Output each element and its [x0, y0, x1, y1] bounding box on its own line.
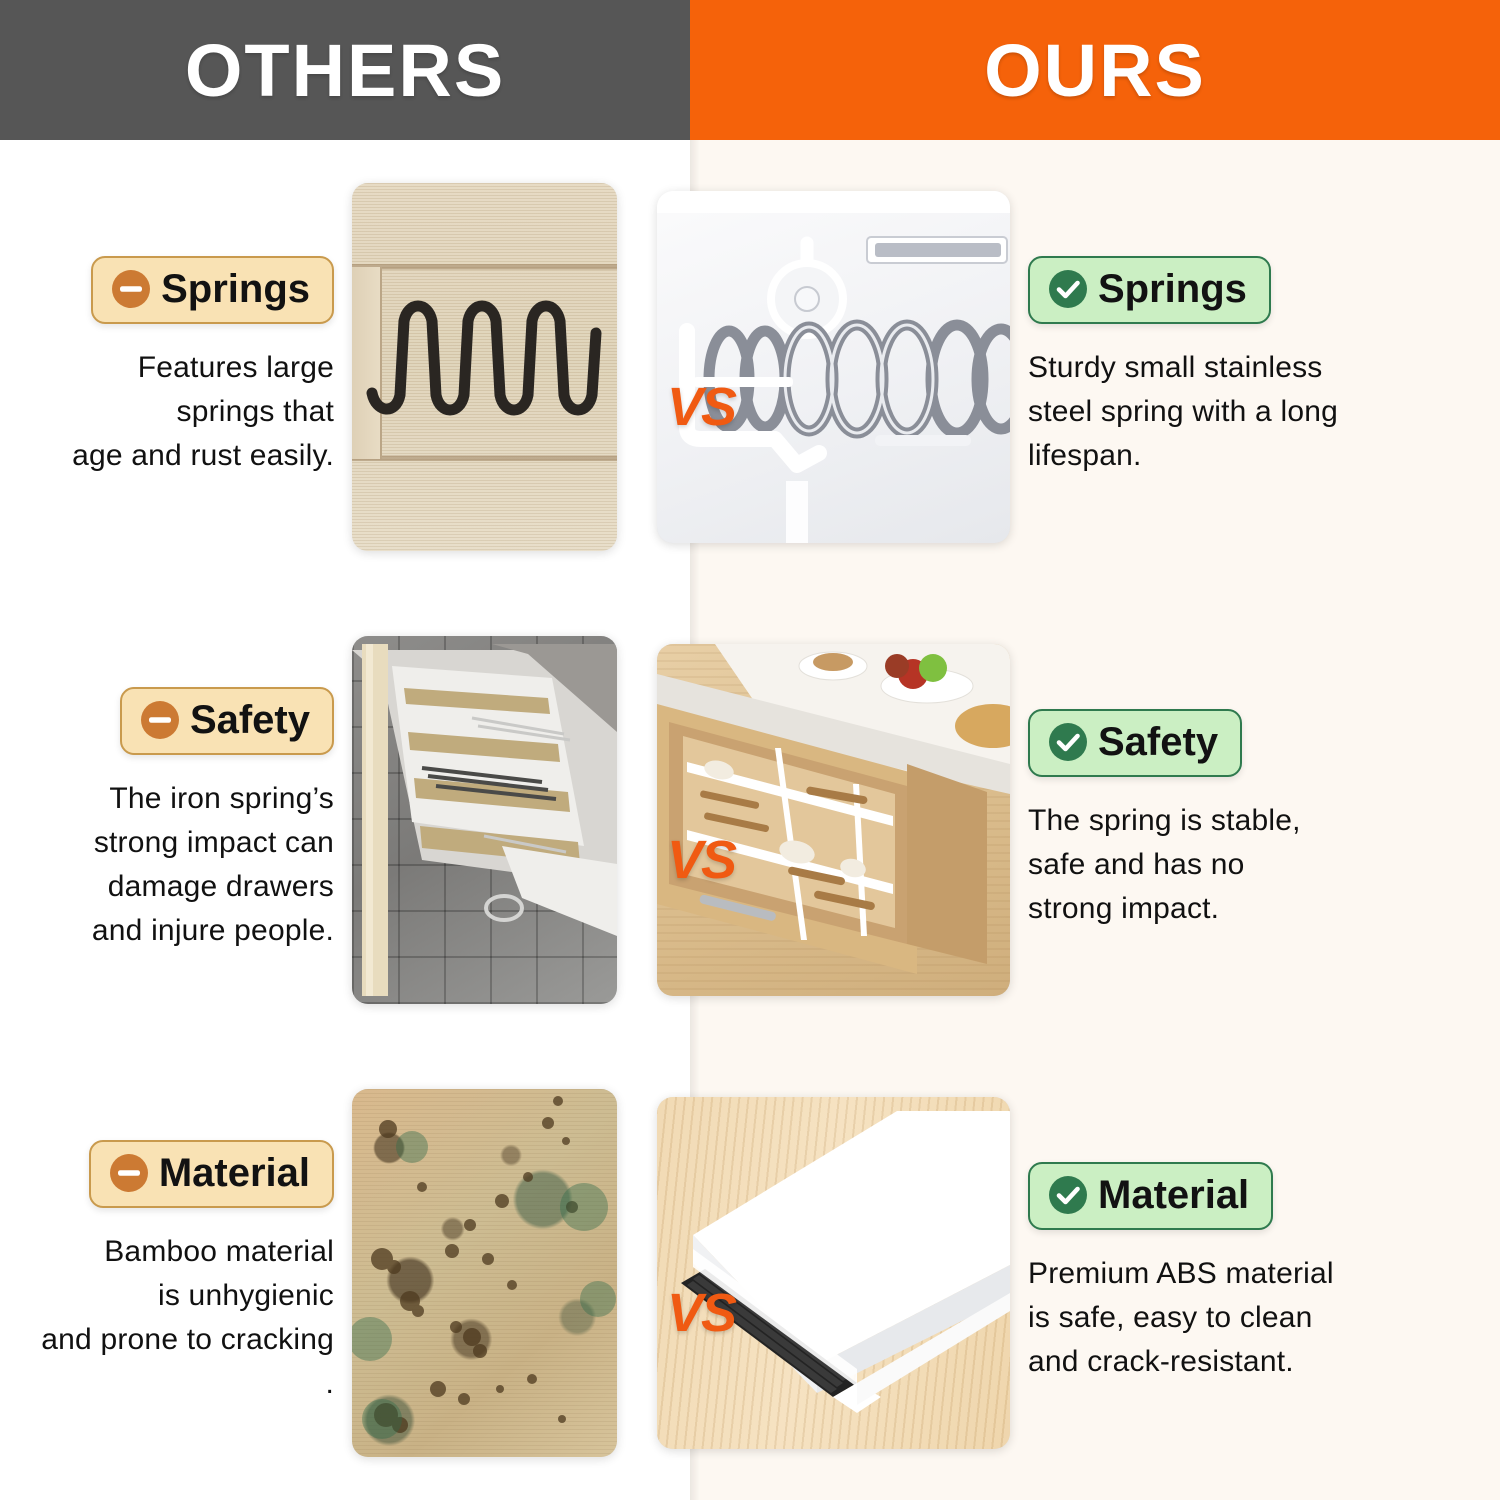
badge-others-material: Material — [89, 1140, 334, 1208]
desc-line: The spring is stable, — [1028, 804, 1301, 837]
badge-ours-material: Material — [1028, 1162, 1273, 1230]
desc-line: age and rust easily. — [72, 439, 334, 472]
comparison-row-material: Material Bamboo material is unhygienic a… — [0, 1047, 1500, 1500]
badge-others-safety: Safety — [120, 687, 334, 755]
desc-line: strong impact can — [94, 826, 334, 859]
minus-circle-icon — [109, 1153, 149, 1193]
mold-spots-graphic — [352, 1089, 617, 1457]
vs-marker-safety: VS — [667, 829, 735, 891]
comparison-board: Springs Features large springs that age … — [0, 140, 1500, 1500]
ours-safety-image — [657, 644, 1010, 996]
ours-springs-desc: Sturdy small stainless steel spring with… — [1028, 346, 1338, 478]
vs-marker-springs: VS — [667, 376, 735, 438]
minus-circle-icon — [140, 700, 180, 740]
others-material-text: Material Bamboo material is unhygienic a… — [12, 1140, 352, 1406]
badge-others-safety-label: Safety — [190, 700, 310, 740]
others-safety-text: Safety The iron spring’s strong impact c… — [12, 687, 352, 953]
organized-drawer-graphic — [657, 644, 1010, 996]
badge-others-material-label: Material — [159, 1153, 310, 1193]
desc-line: The iron spring’s — [109, 782, 334, 815]
check-circle-icon — [1048, 722, 1088, 762]
header-others: OTHERS — [0, 0, 690, 140]
comparison-rows: Springs Features large springs that age … — [0, 140, 1500, 1500]
desc-line: . — [41, 1362, 334, 1406]
comparison-row-springs: Springs Features large springs that age … — [0, 140, 1500, 593]
desc-line: and crack-resistant. — [1028, 1345, 1294, 1378]
desc-line: and injure people. — [92, 914, 334, 947]
others-safety-image — [352, 636, 617, 1004]
header-ours: OURS — [690, 0, 1500, 140]
desc-line: safe and has no — [1028, 848, 1245, 881]
others-material-desc: Bamboo material is unhygienic and prone … — [41, 1230, 334, 1406]
ours-material-desc: Premium ABS material is safe, easy to cl… — [1028, 1252, 1334, 1384]
others-material-image — [352, 1089, 617, 1457]
desc-line: steel spring with a long — [1028, 395, 1338, 428]
header-others-title: OTHERS — [185, 28, 505, 113]
desc-line: Sturdy small stainless — [1028, 351, 1323, 384]
ours-safety-text: Safety The spring is stable, safe and ha… — [1010, 709, 1410, 931]
badge-others-springs-label: Springs — [161, 269, 310, 309]
ours-material-text: Material Premium ABS material is safe, e… — [1010, 1162, 1410, 1384]
ours-material-image — [657, 1097, 1010, 1449]
check-circle-icon — [1048, 1175, 1088, 1215]
desc-line: Features large — [138, 351, 334, 384]
abs-divider-graphic — [657, 1097, 1010, 1449]
badge-ours-springs-label: Springs — [1098, 269, 1247, 309]
badge-ours-springs: Springs — [1028, 256, 1271, 324]
zigzag-spring-graphic — [352, 183, 617, 551]
ours-springs-image — [657, 191, 1010, 543]
check-circle-icon — [1048, 269, 1088, 309]
ours-springs-text: Springs Sturdy small stainless steel spr… — [1010, 256, 1410, 478]
desc-line: Bamboo material — [104, 1235, 334, 1268]
badge-ours-safety-label: Safety — [1098, 722, 1218, 762]
coil-spring-graphic — [657, 191, 1010, 543]
badge-ours-safety: Safety — [1028, 709, 1242, 777]
desc-line: and prone to cracking — [41, 1323, 334, 1356]
desc-line: is safe, easy to clean — [1028, 1301, 1313, 1334]
badge-others-springs: Springs — [91, 256, 334, 324]
others-safety-desc: The iron spring’s strong impact can dama… — [92, 777, 334, 953]
desc-line: damage drawers — [108, 870, 334, 903]
minus-circle-icon — [111, 269, 151, 309]
desc-line: Premium ABS material — [1028, 1257, 1334, 1290]
others-springs-image — [352, 183, 617, 551]
vs-marker-material: VS — [667, 1282, 735, 1344]
others-springs-text: Springs Features large springs that age … — [12, 256, 352, 478]
messy-drawer-graphic — [352, 636, 617, 1004]
comparison-header: OTHERS OURS — [0, 0, 1500, 140]
ours-safety-desc: The spring is stable, safe and has no st… — [1028, 799, 1301, 931]
header-ours-title: OURS — [984, 28, 1206, 113]
others-springs-desc: Features large springs that age and rust… — [72, 346, 334, 478]
comparison-row-safety: Safety The iron spring’s strong impact c… — [0, 593, 1500, 1046]
badge-ours-material-label: Material — [1098, 1175, 1249, 1215]
desc-line: lifespan. — [1028, 439, 1142, 472]
desc-line: is unhygienic — [158, 1279, 334, 1312]
desc-line: strong impact. — [1028, 892, 1219, 925]
desc-line: springs that — [177, 395, 334, 428]
